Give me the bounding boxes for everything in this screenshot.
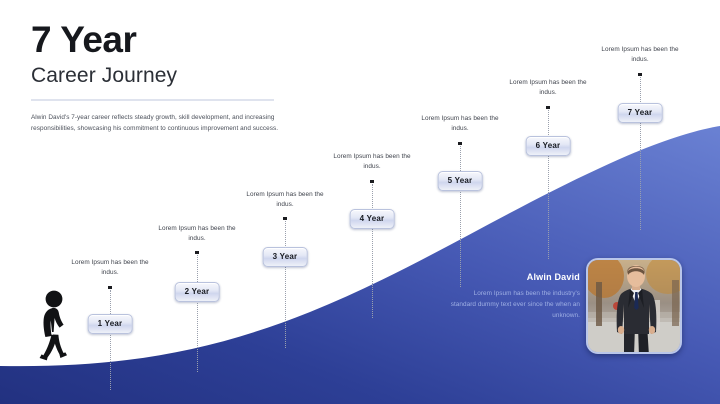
milestone-caption: Lorem Ipsum has been the indus. [62,258,158,279]
slide-canvas: 7 Year Career Journey Alwin David's 7-ye… [0,0,720,404]
profile-name: Alwin David [448,272,580,282]
milestone-caption: Lorem Ipsum has been the indus. [149,224,245,245]
title-divider [31,99,274,101]
profile-photo [586,258,682,354]
milestone-year-badge[interactable]: 1 Year [88,314,133,334]
milestone-caption: Lorem Ipsum has been the indus. [237,190,333,211]
milestone-caption: Lorem Ipsum has been the indus. [324,152,420,173]
page-title: 7 Year [31,20,331,60]
milestone-connector-line [197,255,198,372]
walking-person-icon [33,288,73,366]
milestone-year-badge[interactable]: 2 Year [175,282,220,302]
milestone-year-badge[interactable]: 3 Year [263,247,308,267]
milestone-connector-line [372,184,373,318]
milestone-dot-icon [370,180,373,183]
milestone-dot-icon [108,286,111,289]
page-subtitle: Career Journey [31,64,331,87]
milestone-caption: Lorem Ipsum has been the indus. [412,114,508,135]
milestone-dot-icon [283,217,286,220]
milestone-connector-line [640,77,641,230]
milestone-caption: Lorem Ipsum has been the indus. [592,45,688,66]
header-block: 7 Year Career Journey Alwin David's 7-ye… [31,20,331,135]
milestone-year-badge[interactable]: 7 Year [618,103,663,123]
milestone-year-badge[interactable]: 5 Year [438,171,483,191]
milestone-dot-icon [638,73,641,76]
milestone-dot-icon [546,106,549,109]
profile-card: Alwin David Lorem Ipsum has been the ind… [448,258,688,358]
intro-paragraph: Alwin David's 7-year career reflects ste… [31,112,289,135]
milestone-connector-line [285,221,286,348]
profile-description: Lorem Ipsum has been the industry's stan… [448,288,580,321]
milestone-year-badge[interactable]: 4 Year [350,209,395,229]
milestone-caption: Lorem Ipsum has been the indus. [500,78,596,99]
milestone-connector-line [110,290,111,390]
milestone-dot-icon [458,142,461,145]
profile-text-block: Alwin David Lorem Ipsum has been the ind… [448,272,580,321]
milestone-year-badge[interactable]: 6 Year [526,136,571,156]
milestone-dot-icon [195,251,198,254]
milestone-connector-line [548,110,549,259]
